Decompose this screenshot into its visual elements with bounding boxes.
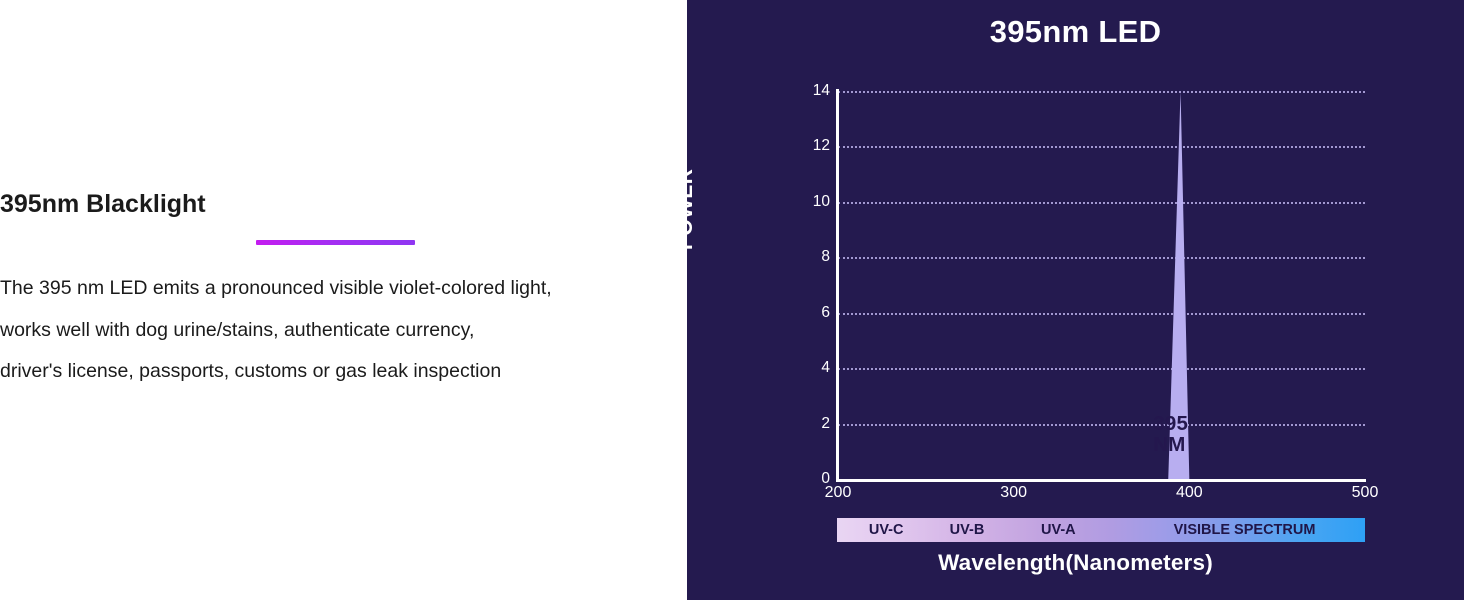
y-axis-ticks: 02468101214: [786, 91, 830, 479]
x-tick-label: 500: [1352, 484, 1379, 502]
spectrum-band-label: VISIBLE SPECTRUM: [1174, 518, 1316, 542]
chart-plot-series: 395 NM: [838, 91, 1365, 479]
spectrum-band-bar: UV-CUV-BUV-AVISIBLE SPECTRUM: [837, 518, 1365, 542]
x-axis-line: [836, 479, 1366, 482]
description-line-3: driver's license, passports, customs or …: [0, 351, 687, 393]
peak-annotation-line-2: NM: [1153, 434, 1188, 455]
x-tick-label: 300: [1000, 484, 1027, 502]
y-tick-label: 10: [790, 193, 830, 211]
plot-wrapper: 395 NM 02468101214 POWER 200300400500 UV…: [687, 0, 1464, 600]
spectrum-band-label: UV-A: [1041, 518, 1076, 542]
description-line-1: The 395 nm LED emits a pronounced visibl…: [0, 268, 687, 310]
spectrum-band-label: UV-B: [950, 518, 985, 542]
title-underline-divider: [256, 240, 415, 245]
y-axis-line: [836, 89, 839, 481]
description-line-2: works well with dog urine/stains, authen…: [0, 310, 687, 352]
left-info-panel: 395nm Blacklight The 395 nm LED emits a …: [0, 0, 687, 600]
peak-annotation-line-1: 395: [1153, 413, 1188, 434]
emission-peak-shape: [838, 91, 1365, 479]
spectrum-band-label: UV-C: [869, 518, 904, 542]
y-tick-label: 14: [790, 82, 830, 100]
y-tick-label: 2: [790, 415, 830, 433]
x-axis-label: Wavelength(Nanometers): [687, 550, 1464, 576]
slide-root: 395nm Blacklight The 395 nm LED emits a …: [0, 0, 1464, 600]
chart-panel: 395nm LED 395 NM 02468101214 POWER: [687, 0, 1464, 600]
page-title: 395nm Blacklight: [0, 188, 687, 220]
x-tick-label: 400: [1176, 484, 1203, 502]
x-tick-label: 200: [825, 484, 852, 502]
y-tick-label: 4: [790, 359, 830, 377]
peak-annotation: 395 NM: [1153, 413, 1188, 455]
y-tick-label: 6: [790, 304, 830, 322]
description-text: The 395 nm LED emits a pronounced visibl…: [0, 268, 687, 393]
y-tick-label: 12: [790, 137, 830, 155]
y-tick-label: 8: [790, 248, 830, 266]
y-axis-label: POWER: [687, 169, 698, 250]
